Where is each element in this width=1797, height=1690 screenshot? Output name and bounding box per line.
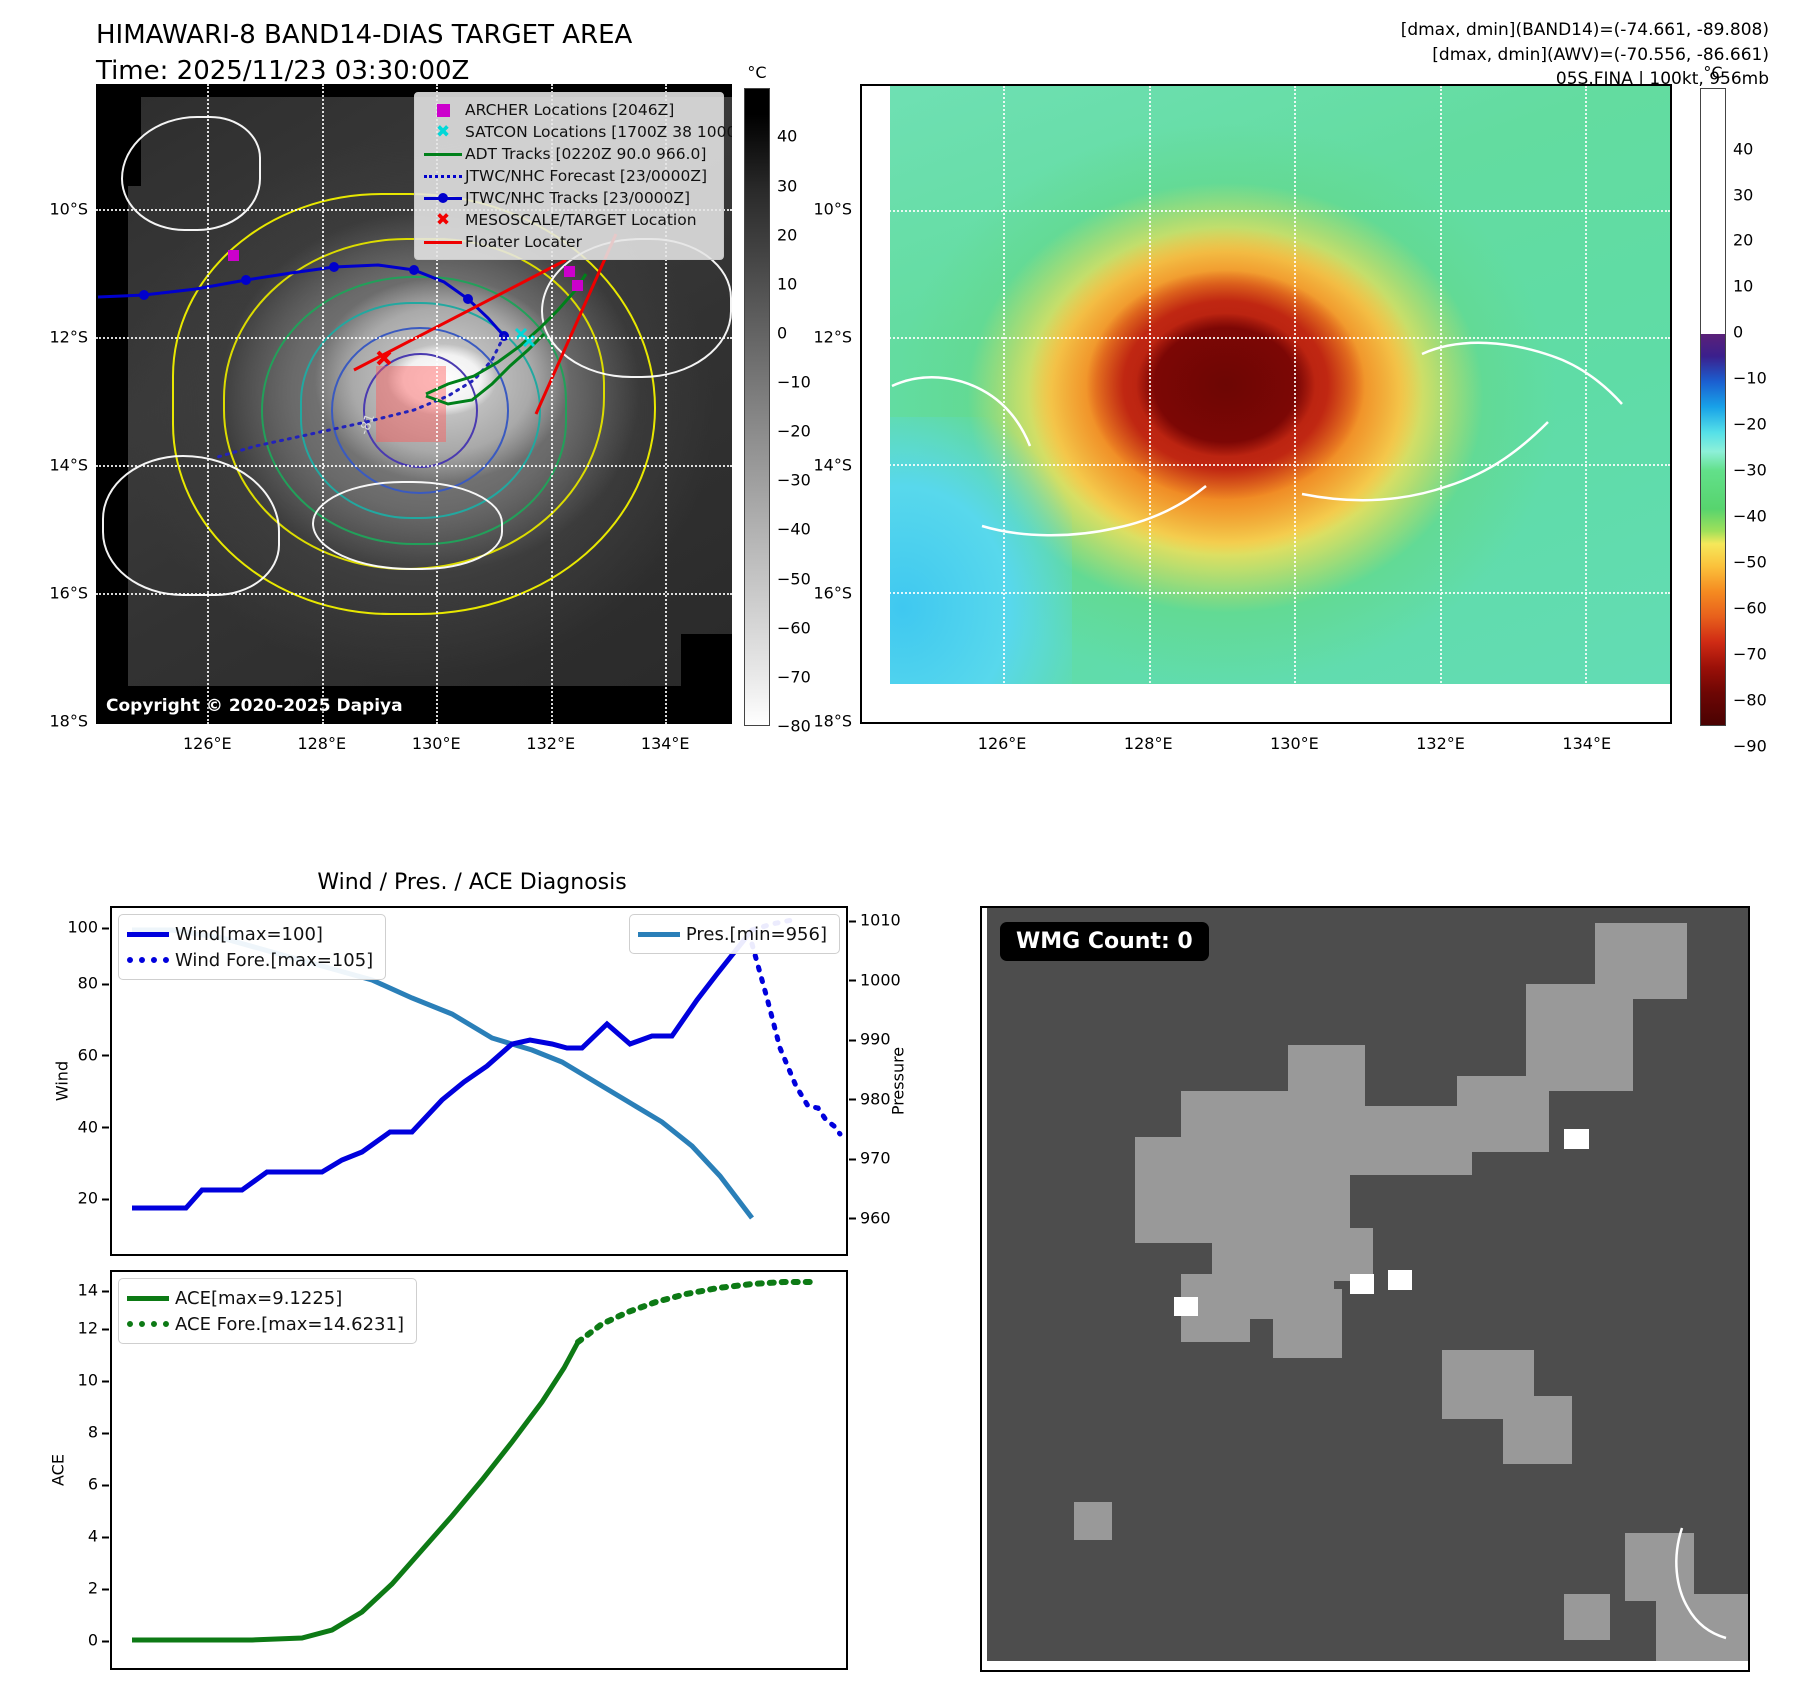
ir-lat-tick: 12°S (49, 327, 88, 346)
legend-item-satcon[interactable]: ✖ SATCON Locations [1700Z 38 1000] (421, 121, 715, 143)
pressure-axis-label: Pressure (888, 1047, 907, 1115)
cb-tick: −50 (777, 569, 811, 588)
wind-legend[interactable]: Wind[max=100] Wind Fore.[max=105] (118, 914, 386, 980)
wmg-edge-bottom (982, 1661, 1748, 1670)
coastline-path-sw (982, 486, 1206, 535)
colorbar-unit-label: °C (747, 63, 766, 82)
awv-lon-tick: 134°E (1562, 734, 1611, 753)
ace-ytick: 6 (88, 1475, 98, 1494)
grid-lon-126 (1003, 86, 1005, 722)
copyright-text: Copyright © 2020-2025 Dapiya (106, 696, 403, 716)
cb-tick: 10 (1733, 277, 1753, 296)
ace-chart[interactable]: ACE[max=9.1225] ACE Fore.[max=14.6231] A… (110, 1270, 848, 1670)
legend-label: Floater Locater (465, 233, 582, 251)
ace-ytick: 8 (88, 1423, 98, 1442)
legend-item-pressure[interactable]: Pres.[min=956] (638, 921, 827, 947)
grid-lon-132 (1440, 86, 1442, 722)
pressure-ytick: 970 (860, 1149, 891, 1168)
wind-ytick: 80 (78, 974, 98, 993)
grid-lat-12 (862, 337, 1670, 339)
archer-square-icon (421, 104, 465, 117)
legend-label: JTWC/NHC Forecast [23/0000Z] (465, 167, 707, 185)
wind-ytick: 60 (78, 1045, 98, 1064)
ace-forecast-dots-icon (127, 1321, 175, 1327)
dmax-band14-text: [dmax, dmin](BAND14)=(-74.661, -89.808) (1401, 18, 1769, 43)
legend-label: ADT Tracks [0220Z 90.0 966.0] (465, 145, 706, 163)
cb-tick: −90 (1733, 736, 1767, 755)
legend-item-jtwc-forecast[interactable]: JTWC/NHC Forecast [23/0000Z] (421, 165, 715, 187)
awv-lon-tick: 128°E (1124, 734, 1173, 753)
colorbar-unit-label: °C (1703, 63, 1722, 82)
wind-line-icon (127, 932, 175, 937)
forecast-dots-icon (421, 175, 465, 178)
cb-tick: −70 (777, 667, 811, 686)
awv-enhanced-ir-panel[interactable]: 10°S 12°S 14°S 16°S 18°S 126°E 128°E 130… (860, 84, 1672, 724)
wmg-panel[interactable]: WMG Count: 0 (980, 906, 1750, 1672)
ace-line-icon (127, 1296, 175, 1301)
ir-band14-panel[interactable]: -81 (96, 84, 732, 724)
charts-title: Wind / Pres. / ACE Diagnosis (96, 870, 848, 895)
awv-lon-tick: 130°E (1270, 734, 1319, 753)
wmg-coastline-overlay (982, 908, 1748, 1670)
legend-item-adt[interactable]: ADT Tracks [0220Z 90.0 966.0] (421, 143, 715, 165)
cb-tick: −20 (1733, 415, 1767, 434)
ace-line (132, 1342, 578, 1640)
jtwc-forecast-line (214, 336, 504, 458)
legend-item-floater[interactable]: Floater Locater (421, 231, 715, 253)
awv-lat-tick: 18°S (813, 711, 852, 730)
legend-item-jtwc-tracks[interactable]: JTWC/NHC Tracks [23/0000Z] (421, 187, 715, 209)
title-line: HIMAWARI-8 BAND14-DIAS TARGET AREA (96, 18, 632, 54)
cb-tick: 30 (1733, 185, 1753, 204)
floater-line-icon (421, 241, 465, 244)
ace-plot-area: ACE[max=9.1225] ACE Fore.[max=14.6231] (110, 1270, 848, 1670)
wmg-image: WMG Count: 0 (980, 906, 1750, 1672)
page-title: HIMAWARI-8 BAND14-DIAS TARGET AREA Time:… (96, 18, 632, 90)
pressure-ytick: 1010 (860, 911, 901, 930)
ir-band14-image: -81 (96, 84, 732, 724)
ir-lon-tick: 134°E (641, 734, 690, 753)
coastline-path-se (1302, 422, 1548, 500)
jtwc-track-points (139, 262, 509, 341)
cb-tick: −80 (1733, 690, 1767, 709)
legend-label: ACE Fore.[max=14.6231] (175, 1314, 404, 1335)
coastline-path (1676, 1528, 1726, 1638)
grid-lat-16 (96, 593, 732, 595)
grid-lat-14 (862, 464, 1670, 466)
ir-band14-colorbar[interactable]: °C 40 30 20 10 0 −10 −20 −30 −40 −50 −60… (744, 88, 770, 726)
cb-tick: −50 (1733, 553, 1767, 572)
awv-lat-tick: 10°S (813, 199, 852, 218)
legend-label: ARCHER Locations [2046Z] (465, 101, 674, 119)
legend-item-archer[interactable]: ARCHER Locations [2046Z] (421, 99, 715, 121)
wmg-edge-left (982, 908, 987, 1670)
ir-lon-tick: 126°E (183, 734, 232, 753)
ace-forecast-line (578, 1282, 812, 1342)
cb-tick: −20 (777, 422, 811, 441)
pressure-legend[interactable]: Pres.[min=956] (629, 914, 840, 954)
grid-lat-12 (96, 337, 732, 339)
ace-ytick: 2 (88, 1579, 98, 1598)
wind-ytick: 100 (67, 918, 98, 937)
awv-lat-tick: 12°S (813, 327, 852, 346)
cb-tick: −80 (777, 717, 811, 736)
cb-tick: −70 (1733, 644, 1767, 663)
pressure-ytick: 960 (860, 1208, 891, 1227)
legend-label: JTWC/NHC Tracks [23/0000Z] (465, 189, 690, 207)
cb-tick: 0 (1733, 323, 1743, 342)
map-legend[interactable]: ARCHER Locations [2046Z] ✖ SATCON Locati… (414, 92, 724, 260)
cb-tick: 40 (1733, 139, 1753, 158)
awv-lon-tick: 132°E (1416, 734, 1465, 753)
wind-plot-area: Wind[max=100] Wind Fore.[max=105] Pres.[… (110, 906, 848, 1256)
ir-lon-tick: 130°E (412, 734, 461, 753)
legend-label: SATCON Locations [1700Z 38 1000] (465, 123, 732, 141)
legend-label: Wind Fore.[max=105] (175, 950, 373, 971)
ace-ytick: 10 (78, 1371, 98, 1390)
cb-tick: −60 (777, 618, 811, 637)
wind-ytick: 40 (78, 1117, 98, 1136)
cb-tick: −10 (1733, 369, 1767, 388)
awv-coastlines-overlay (862, 86, 1670, 722)
floater-locater-line-2 (536, 234, 616, 414)
ir-lon-tick: 128°E (297, 734, 346, 753)
ir-lat-tick: 16°S (49, 583, 88, 602)
adt-line-icon (421, 153, 465, 156)
cb-tick: 40 (777, 127, 797, 146)
cb-tick: 20 (777, 225, 797, 244)
wind-axis-label: Wind (53, 1061, 72, 1101)
cb-tick: −30 (1733, 461, 1767, 480)
pressure-ytick: 1000 (860, 970, 901, 989)
grid-lon-126 (207, 84, 209, 724)
ace-ytick: 12 (78, 1319, 98, 1338)
cb-tick: 10 (777, 274, 797, 293)
coastline-path-w (892, 377, 1030, 446)
ace-axis-label: ACE (48, 1454, 67, 1486)
legend-label: Pres.[min=956] (686, 924, 827, 945)
cb-tick: −40 (777, 520, 811, 539)
ace-ytick: 0 (88, 1631, 98, 1650)
legend-item-wind-forecast[interactable]: Wind Fore.[max=105] (127, 947, 373, 973)
ace-ytick: 4 (88, 1527, 98, 1546)
wind-ytick: 20 (78, 1189, 98, 1208)
ir-lon-tick: 132°E (526, 734, 575, 753)
pressure-ytick: 990 (860, 1030, 891, 1049)
cb-tick: −10 (777, 373, 811, 392)
grid-lat-14 (96, 465, 732, 467)
grid-lon-134 (1585, 86, 1587, 722)
legend-item-mesoscale[interactable]: ✖ MESOSCALE/TARGET Location (421, 209, 715, 231)
legend-label: ACE[max=9.1225] (175, 1288, 342, 1309)
cb-tick: −30 (777, 471, 811, 490)
pressure-ytick: 980 (860, 1089, 891, 1108)
cb-tick: 30 (777, 176, 797, 195)
cb-tick: 20 (1733, 231, 1753, 250)
awv-lat-tick: 16°S (813, 583, 852, 602)
colorbar-gradient (744, 88, 770, 726)
legend-item-ace-forecast[interactable]: ACE Fore.[max=14.6231] (127, 1311, 404, 1337)
ir-lat-tick: 14°S (49, 455, 88, 474)
ace-ytick: 14 (78, 1281, 98, 1300)
cb-tick: −40 (1733, 507, 1767, 526)
legend-item-ace[interactable]: ACE[max=9.1225] (127, 1285, 404, 1311)
cb-tick: −60 (1733, 598, 1767, 617)
legend-label: Wind[max=100] (175, 924, 323, 945)
grid-lat-10 (862, 210, 1670, 212)
grid-lon-130 (1294, 86, 1296, 722)
grid-lat-16 (862, 592, 1670, 594)
wmg-count-badge: WMG Count: 0 (1000, 922, 1209, 961)
legend-item-wind[interactable]: Wind[max=100] (127, 921, 373, 947)
awv-lon-tick: 126°E (978, 734, 1027, 753)
track-linedot-icon (421, 197, 465, 200)
pressure-line-icon (638, 932, 686, 937)
grid-lon-128 (322, 84, 324, 724)
wind-pressure-chart[interactable]: Wind[max=100] Wind Fore.[max=105] Pres.[… (110, 906, 848, 1256)
mesoscale-x-icon: ✖ (421, 212, 465, 229)
cb-tick: 0 (777, 323, 787, 342)
wind-forecast-dots-icon (127, 957, 175, 963)
ace-legend[interactable]: ACE[max=9.1225] ACE Fore.[max=14.6231] (118, 1278, 417, 1344)
satcon-x-icon: ✖ (421, 124, 465, 141)
awv-image (860, 84, 1672, 724)
pressure-forecast-line (752, 944, 840, 1134)
grid-lon-128 (1149, 86, 1151, 722)
awv-colorbar[interactable]: °C 40 30 20 10 0 −10 −20 −30 −40 −50 −60… (1700, 88, 1726, 726)
legend-label: MESOSCALE/TARGET Location (465, 211, 697, 229)
ir-lat-tick: 18°S (49, 711, 88, 730)
colorbar-gradient (1700, 88, 1726, 726)
ir-lat-tick: 10°S (49, 199, 88, 218)
coastline-path-ne (1422, 343, 1622, 404)
awv-lat-tick: 14°S (813, 455, 852, 474)
